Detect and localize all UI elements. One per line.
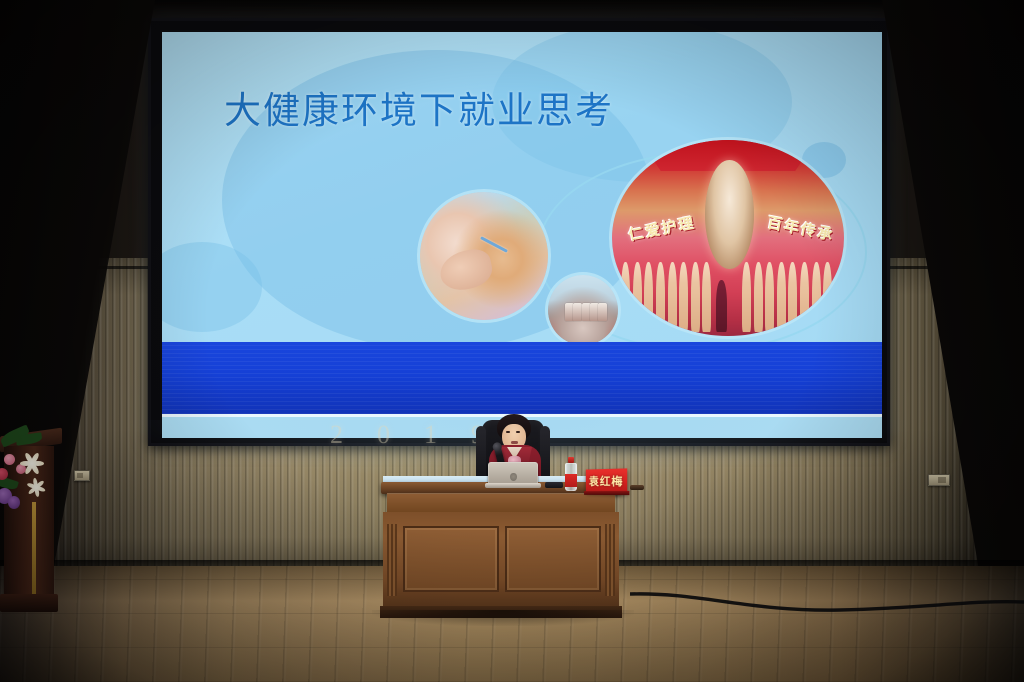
presentation-slide: 大健康环境下就业思考 仁爱护理 百年传承 xyxy=(162,32,882,438)
name-plate: 袁红梅 xyxy=(586,468,627,493)
presenter-eye-left xyxy=(506,431,510,433)
injection-photo xyxy=(420,192,548,320)
purple-flower xyxy=(8,496,20,509)
name-plate-stand xyxy=(584,491,629,495)
rose xyxy=(4,454,15,465)
desk-small-object-right xyxy=(630,485,644,490)
water-bottle xyxy=(565,457,577,491)
desk-fluting-right xyxy=(605,524,615,596)
desk-small-object-left xyxy=(545,482,563,488)
laptop xyxy=(485,462,541,488)
medicine-bottles-photo xyxy=(548,275,618,345)
desk-floor-shadow xyxy=(372,610,634,626)
slide-title: 大健康环境下就业思考 xyxy=(224,80,614,134)
bottle-cap xyxy=(568,457,574,463)
name-plate-text: 袁红梅 xyxy=(589,473,624,490)
photo-scene: 大健康环境下就业思考 仁爱护理 百年传承 xyxy=(0,0,1024,682)
white-lily xyxy=(20,450,46,476)
presenter-mouth xyxy=(511,441,518,444)
nightingale-portrait xyxy=(705,160,754,270)
projection-screen: 大健康环境下就业思考 仁爱护理 百年传承 xyxy=(148,18,890,446)
slide-blue-band xyxy=(162,342,882,414)
choir-conductor xyxy=(716,280,727,332)
apple-logo-icon xyxy=(510,473,517,481)
desk-panel-right xyxy=(505,526,601,592)
laptop-lid xyxy=(488,462,538,484)
wall-outlet-plate-left xyxy=(74,470,90,481)
desk-panel-left xyxy=(403,526,499,592)
speaker-desk xyxy=(383,482,619,618)
desk-fluting-left xyxy=(387,524,397,596)
presenter-eye-right xyxy=(516,431,520,433)
white-lily xyxy=(27,477,48,498)
laptop-base xyxy=(485,483,541,488)
nurse-choir xyxy=(612,262,844,333)
bottle-label xyxy=(565,474,577,487)
desk-apron xyxy=(387,493,615,513)
desk-front xyxy=(383,512,619,608)
power-cable xyxy=(630,590,1024,624)
nurses-ceremony-photo: 仁爱护理 百年传承 xyxy=(612,140,844,336)
lectern-base xyxy=(0,594,58,612)
flower-arrangement xyxy=(0,430,64,540)
wall-outlet-plate-right xyxy=(928,474,950,486)
